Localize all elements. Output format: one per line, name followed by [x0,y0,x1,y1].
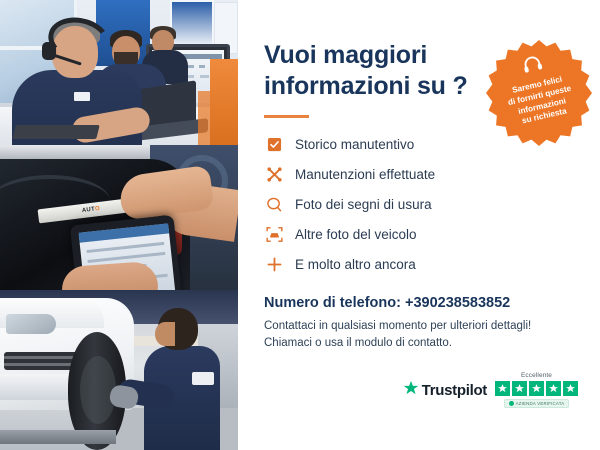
headline-line-1: Vuoi maggiori [264,41,427,69]
trustpilot-star-filled [512,381,527,396]
page-title: Vuoi maggiori informazioni su ? [264,40,479,101]
list-item-label: Altre foto del veicolo [295,227,417,242]
tablet-screen-line [86,242,164,253]
mechanic-uniform-patch [192,372,214,385]
title-underline-divider [264,115,309,118]
trustpilot-star-filled [529,381,544,396]
list-item: Altre foto del veicolo [264,220,574,248]
car-scan-icon [264,224,284,244]
phone-number[interactable]: Numero di telefono: +390238583852 [264,295,574,311]
mechanic-wheel-check-photo [0,290,238,450]
call-center-agents-photo [0,0,238,145]
headset-earcup [42,42,56,60]
feature-list: Storico manutentivo Manutenzi [264,130,574,278]
orange-panel [210,59,238,145]
list-item-label: Manutenzioni effettuate [295,167,435,182]
list-item-label: Foto dei segni di usura [295,197,432,212]
headset-icon [520,53,545,80]
trustpilot-rating-label: Eccellente [521,372,552,379]
promo-banner: AUTO [0,0,600,450]
list-item: Manutenzioni effettuate [264,160,574,188]
trustpilot-star-filled [563,381,578,396]
list-item-label: E molto altro ancora [295,257,416,272]
trustpilot-stars [495,381,578,396]
trustpilot-star-filled [546,381,561,396]
verified-company-badge: AZIENDA VERIFICATA [504,399,570,408]
badge-text: Saremo felici di fornirti queste informa… [491,70,590,133]
request-info-badge: Saremo felici di fornirti queste informa… [486,40,592,146]
list-item: Foto dei segni di usura [264,190,574,218]
trustpilot-star-filled [495,381,510,396]
vehicle-lift-ramp [0,430,116,444]
tablet-vehicle-inspection-photo: AUTO [0,145,238,290]
ruler-logo-accent: O [95,206,101,213]
trustpilot-wordmark: Trustpilot [422,382,487,399]
magnifier-icon [264,194,284,214]
verified-company-label: AZIENDA VERIFICATA [516,401,565,406]
content-panel: Vuoi maggiori informazioni su ? Storico … [238,0,600,450]
trustpilot-score: Eccellente AZIENDA VERIFICATA [495,372,578,408]
photo-column: AUTO [0,0,238,450]
contact-description-line-2: Chiamaci o usa il modulo di contatto. [264,335,574,352]
checkbox-checked-icon [264,134,284,154]
badge-content: Saremo felici di fornirti queste informa… [475,29,600,156]
list-item: E molto altro ancora [264,250,574,278]
car-headlight [6,314,56,334]
trustpilot-rating-widget[interactable]: Trustpilot Eccellente AZIENDA VERIFICATA [403,372,578,408]
keyboard [12,125,99,139]
plus-icon [264,254,284,274]
trustpilot-star-icon [403,380,419,401]
tablet-screen-line [87,252,165,263]
wrench-cross-icon [264,164,284,184]
tablet-app-header [79,223,170,242]
headline-line-2: informazioni su ? [264,72,468,100]
verified-check-icon [509,401,514,406]
contact-description-line-1: Contattaci in qualsiasi momento per ulte… [264,318,574,335]
list-item-label: Storico manutentivo [295,137,414,152]
contact-description: Contattaci in qualsiasi momento per ulte… [264,318,574,351]
agent-one-name-badge [74,92,90,101]
trustpilot-logo: Trustpilot [403,380,487,401]
mechanic-face [155,322,175,346]
